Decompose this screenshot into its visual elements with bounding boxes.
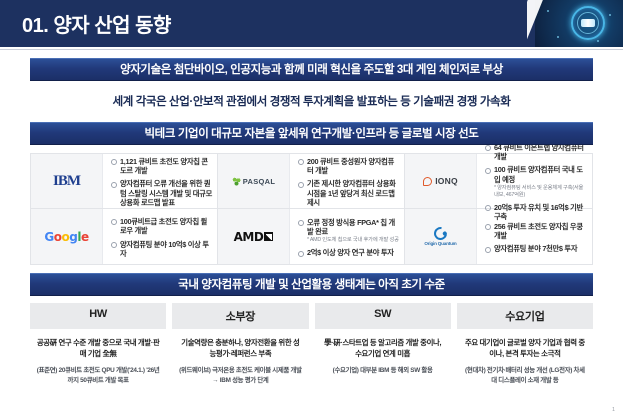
pasqal-bullets: 200 큐비트 중성원자 양자컴퓨터 개발 기존 제시한 양자컴퓨터 상용화 시… bbox=[290, 154, 404, 208]
company-card-ionq: IONQ 64 큐비트 이온트랩 양자컴퓨터 개발 100 큐비트 양자컴퓨터 … bbox=[405, 154, 592, 209]
list-item-text: 100 큐비트 양자컴퓨터 국내 도입 예정 bbox=[494, 165, 583, 183]
footnote: * 양자컴퓨팅 서비스 및 운용체계 구축(서울내보, 467억원) bbox=[494, 185, 587, 199]
amd-logo: AMD bbox=[218, 209, 290, 264]
banner-headline-1: 양자기술은 첨단바이오, 인공지능과 함께 미래 혁신을 주도할 3대 게임 체… bbox=[30, 58, 593, 81]
ibm-bullets: 1,121 큐비트 초전도 양자칩 콘도르 개발 양자컴퓨터 오류 개선을 위한… bbox=[103, 154, 217, 208]
table-header-demand: 수요기업 bbox=[457, 303, 593, 329]
cell-lead-text: 주요 대기업이 글로벌 양자 기업과 협력 중이나, 본격 투자는 소극적 bbox=[463, 338, 587, 359]
company-card-amd: AMD 오류 정정 방식용 FPGA* 칩 개발 완료 * AMD 인도체 칩으… bbox=[218, 209, 405, 264]
table-cell-demand: 주요 대기업이 글로벌 양자 기업과 협력 중이나, 본격 투자는 소극적 (현… bbox=[457, 329, 593, 385]
company-grid: IBM 1,121 큐비트 초전도 양자칩 콘도르 개발 양자컴퓨터 오류 개선… bbox=[30, 153, 593, 265]
cell-lead-text: 공공硏 연구 수준 개발 중으로 국내 개발·판매 기업 全無 bbox=[36, 338, 160, 359]
list-item: 양자컴퓨팅 분야 10억$ 이상 투자 bbox=[111, 240, 212, 259]
cell-sub-text: (수요기업) 대부분 IBM 등 해외 SW 활용 bbox=[321, 366, 445, 375]
slide: 01. 양자 산업 동향 양자기술은 첨단바이오, 인공지능과 함께 미래 혁신… bbox=[0, 0, 623, 416]
amd-logo-text: AMD bbox=[234, 230, 264, 244]
origin-mark-icon bbox=[431, 224, 449, 242]
company-card-google: Google 100큐비트급 초전도 양자칩 윌로우 개발 양자컴퓨팅 분야 1… bbox=[31, 209, 218, 264]
ionq-logo-text: IONQ bbox=[435, 176, 458, 186]
pasqal-logo-text: PASQAL bbox=[243, 177, 276, 186]
amd-arrow-icon bbox=[264, 232, 273, 241]
company-card-pasqal: PASQAL 200 큐비트 중성원자 양자컴퓨터 개발 기존 제시한 양자컴퓨… bbox=[218, 154, 405, 209]
origin-logo-text: Origin Quantum bbox=[424, 241, 456, 246]
banner-3-wrap: 국내 양자컴퓨팅 개발 및 산업활용 생태계는 아직 초기 수준 bbox=[0, 273, 623, 296]
list-item: 256 큐비트 초전도 양자칩 우쿵 개발 bbox=[485, 222, 587, 241]
table-cell-sw: 學·硏·스타트업 등 알고리즘 개발 중이나, 수요기업 연계 미흡 (수요기업… bbox=[315, 329, 451, 385]
list-item: 오류 정정 방식용 FPGA* 칩 개발 완료 * AMD 인도체 칩으로 국내… bbox=[298, 218, 399, 244]
table-cell-hw: 공공硏 연구 수준 개발 중으로 국내 개발·판매 기업 全無 (표준연) 20… bbox=[30, 329, 166, 385]
cell-lead-text: 學·硏·스타트업 등 알고리즘 개발 중이나, 수요기업 연계 미흡 bbox=[321, 338, 445, 359]
ionq-logo: IONQ bbox=[405, 154, 477, 208]
list-item: 20억$ 투자 유치 및 16억$ 기반구축 bbox=[485, 203, 587, 222]
list-item: 100큐비트급 초전도 양자칩 윌로우 개발 bbox=[111, 217, 212, 236]
list-item: 1,121 큐비트 초전도 양자칩 콘도르 개발 bbox=[111, 157, 212, 176]
list-item: 2억$ 이상 양자 연구 분야 투자 bbox=[298, 248, 399, 257]
list-item: 64 큐비트 이온트랩 양자컴퓨터 개발 bbox=[485, 143, 587, 162]
list-item: 양자컴퓨터 오류 개선을 위한 퀀텀 스탈링 시스템 개발 및 대규모 상용화 … bbox=[111, 179, 212, 207]
google-logo: Google bbox=[31, 209, 103, 264]
ionq-bullets: 64 큐비트 이온트랩 양자컴퓨터 개발 100 큐비트 양자컴퓨터 국내 도입… bbox=[477, 154, 592, 208]
page-title: 01. 양자 산업 동향 bbox=[22, 9, 171, 38]
pasqal-mark-icon bbox=[232, 177, 241, 186]
list-item: 200 큐비트 중성원자 양자컴퓨터 개발 bbox=[298, 157, 399, 176]
header-divider bbox=[0, 47, 623, 50]
google-bullets: 100큐비트급 초전도 양자칩 윌로우 개발 양자컴퓨팅 분야 10억$ 이상 … bbox=[103, 209, 217, 264]
pasqal-logo: PASQAL bbox=[218, 154, 290, 208]
ibm-logo: IBM bbox=[31, 154, 103, 208]
banner-headline-2: 빅테크 기업이 대규모 자본을 앞세워 연구개발·인프라 등 글로벌 시장 선도 bbox=[30, 122, 593, 145]
table-header-sw: SW bbox=[315, 303, 451, 329]
google-logo-text: Google bbox=[44, 230, 88, 244]
table-header-hw: HW bbox=[30, 303, 166, 329]
origin-quantum-logo: Origin Quantum bbox=[405, 209, 477, 264]
table-header-sobujang: 소부장 bbox=[172, 303, 308, 329]
ibm-logo-text: IBM bbox=[53, 173, 80, 190]
subtitle-text: 세계 각국은 산업·안보적 관점에서 경쟁적 투자계획을 발표하는 등 기술패권… bbox=[30, 93, 593, 109]
banner-headline-3: 국내 양자컴퓨팅 개발 및 산업활용 생태계는 아직 초기 수준 bbox=[30, 273, 593, 296]
list-item-text: 오류 정정 방식용 FPGA* 칩 개발 완료 bbox=[307, 218, 395, 236]
amd-bullets: 오류 정정 방식용 FPGA* 칩 개발 완료 * AMD 인도체 칩으로 국내… bbox=[290, 209, 404, 264]
list-item: 양자컴퓨팅 분야 7천만$ 투자 bbox=[485, 244, 587, 253]
quantum-atom-icon bbox=[527, 0, 623, 47]
cell-sub-text: (표준연) 20큐비트 초전도 QPU 개발('24.1.) '26년까지 50… bbox=[36, 366, 160, 385]
company-card-ibm: IBM 1,121 큐비트 초전도 양자칩 콘도르 개발 양자컴퓨터 오류 개선… bbox=[31, 154, 218, 209]
list-item: 100 큐비트 양자컴퓨터 국내 도입 예정 * 양자컴퓨팅 서비스 및 운용체… bbox=[485, 165, 587, 198]
banner-1-wrap: 양자기술은 첨단바이오, 인공지능과 함께 미래 혁신을 주도할 3대 게임 체… bbox=[0, 58, 623, 81]
cell-lead-text: 기술역량은 충분하나, 양자전환을 위한 성능평가·레퍼런스 부족 bbox=[178, 338, 302, 359]
banner-2-wrap: 빅테크 기업이 대규모 자본을 앞세워 연구개발·인프라 등 글로벌 시장 선도 bbox=[0, 122, 623, 145]
list-item: 기존 제시한 양자컴퓨터 상용화 시점을 1년 앞당겨 최신 로드맵 제시 bbox=[298, 179, 399, 207]
slide-header: 01. 양자 산업 동향 bbox=[0, 0, 623, 47]
page-number: 1 bbox=[612, 407, 615, 413]
cell-sub-text: (위드웨이브) 극저온용 초전도 케이블 시제품 개발 → IBM 성능 평가 … bbox=[178, 366, 302, 385]
ecosystem-table: HW 소부장 SW 수요기업 공공硏 연구 수준 개발 중으로 국내 개발·판매… bbox=[30, 303, 593, 385]
table-cell-sobujang: 기술역량은 충분하나, 양자전환을 위한 성능평가·레퍼런스 부족 (위드웨이브… bbox=[172, 329, 308, 385]
footnote: * AMD 인도체 칩으로 국내 후가에 개발 성공 bbox=[307, 237, 399, 244]
ionq-mark-icon bbox=[423, 177, 432, 186]
cell-sub-text: (현대차) 전기차·배터리 성능 개선 (LG전자) 차세대 디스플레이 소재 … bbox=[463, 366, 587, 385]
